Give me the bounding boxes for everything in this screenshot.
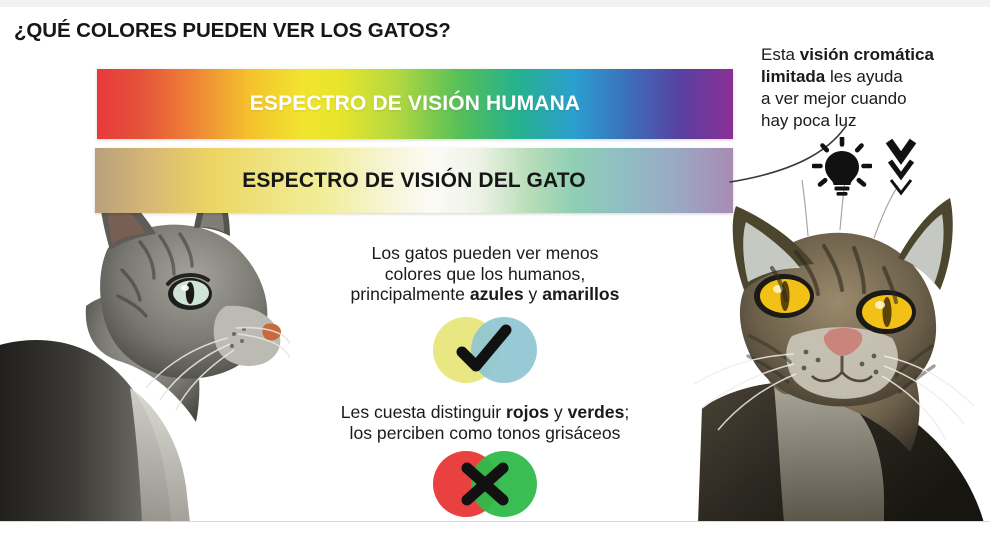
human-spectrum-label: ESPECTRO DE VISIÓN HUMANA	[250, 92, 580, 116]
infographic-canvas: ¿QUÉ COLORES PUEDEN VER LOS GATOS?	[0, 0, 990, 556]
can-see-conj: y	[524, 284, 543, 304]
can-see-prefix: principalmente	[351, 284, 470, 304]
chevron-down-triple-icon	[884, 138, 920, 198]
page-title: ¿QUÉ COLORES PUEDEN VER LOS GATOS?	[14, 19, 451, 43]
cannot-see-prefix: Les cuesta distinguir	[341, 402, 506, 422]
can-see-bold-amarillos: amarillos	[542, 284, 619, 304]
statement-can-see: Los gatos pueden ver menos colores que l…	[295, 243, 675, 305]
cat-spectrum-label: ESPECTRO DE VISIÓN DEL GATO	[242, 169, 586, 193]
can-see-line-1: Los gatos pueden ver menos	[295, 243, 675, 264]
callout-low-light: Esta visión cromática limitada les ayuda…	[761, 44, 986, 132]
cannot-see-line-2: los perciben como tonos grisáceos	[295, 423, 675, 444]
can-see-bold-azules: azules	[470, 284, 524, 304]
callout-line-2-rest: les ayuda	[825, 67, 903, 86]
cannot-see-bold-verdes: verdes	[568, 402, 625, 422]
top-edge-strip	[0, 0, 990, 7]
cannot-see-line-1: Les cuesta distinguir rojos y verdes;	[295, 402, 675, 423]
can-see-line-3: principalmente azules y amarillos	[295, 284, 675, 305]
can-see-line-2: colores que los humanos,	[295, 264, 675, 285]
cannot-see-bold-rojos: rojos	[506, 402, 549, 422]
callout-prefix: Esta	[761, 45, 800, 64]
cannot-see-suffix: ;	[624, 402, 629, 422]
lightbulb-icon	[812, 137, 872, 199]
callout-line-3: a ver mejor cuando	[761, 89, 907, 108]
cat-vision-spectrum-bar: ESPECTRO DE VISIÓN DEL GATO	[95, 148, 733, 213]
cannot-see-conj: y	[549, 402, 568, 422]
callout-bold-vision: visión cromática	[800, 45, 934, 64]
human-vision-spectrum-bar: ESPECTRO DE VISIÓN HUMANA	[97, 69, 733, 139]
callout-bold-limitada: limitada	[761, 67, 825, 86]
statement-cannot-see: Les cuesta distinguir rojos y verdes; lo…	[295, 402, 675, 443]
footer-bar: FUENTE: pethealthclub.com | GRÁFICO: Hen…	[0, 522, 990, 556]
venn-red-green-cross	[428, 450, 542, 518]
venn-yellow-blue-check	[428, 316, 542, 384]
